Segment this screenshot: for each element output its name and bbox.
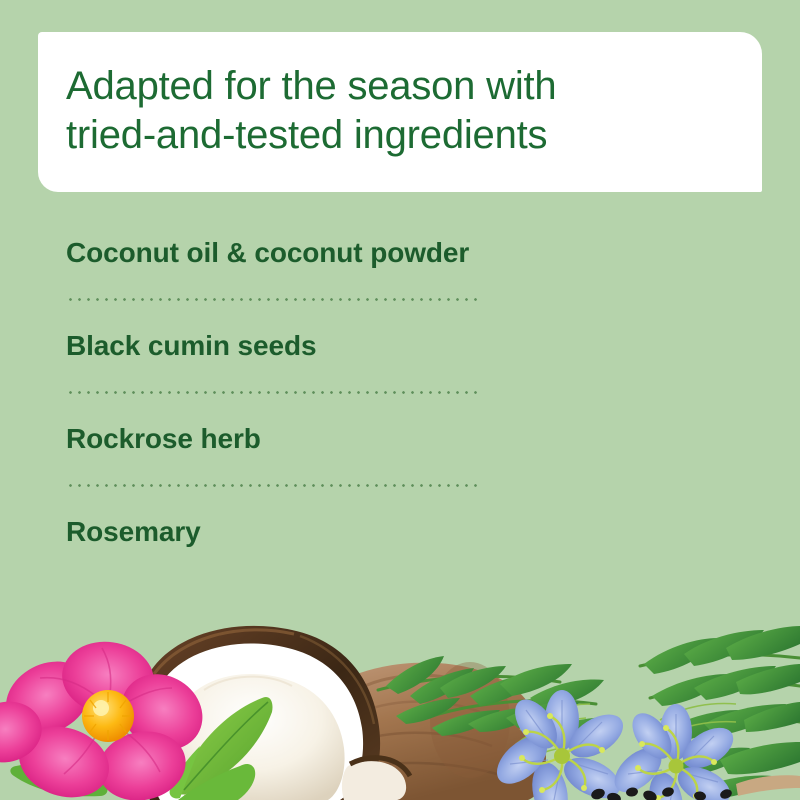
botanical-imagery	[0, 570, 800, 800]
list-item: Coconut oil & coconut powder	[66, 232, 686, 274]
list-item: Rosemary	[66, 511, 686, 553]
list-divider	[66, 391, 478, 394]
ingredient-label-rosemary: Rosemary	[66, 511, 686, 553]
ingredient-label-black-cumin: Black cumin seeds	[66, 325, 686, 367]
ingredient-list: Coconut oil & coconut powder Black cumin…	[66, 232, 686, 553]
poster-root: Adapted for the season with tried-and-te…	[0, 0, 800, 800]
ingredient-label-coconut: Coconut oil & coconut powder	[66, 232, 686, 274]
list-divider	[66, 484, 478, 487]
ingredient-label-rockrose: Rockrose herb	[66, 418, 686, 460]
list-item: Black cumin seeds	[66, 325, 686, 367]
list-item: Rockrose herb	[66, 418, 686, 460]
list-divider	[66, 298, 478, 301]
page-title: Adapted for the season with tried-and-te…	[66, 62, 722, 160]
title-card: Adapted for the season with tried-and-te…	[38, 32, 762, 192]
